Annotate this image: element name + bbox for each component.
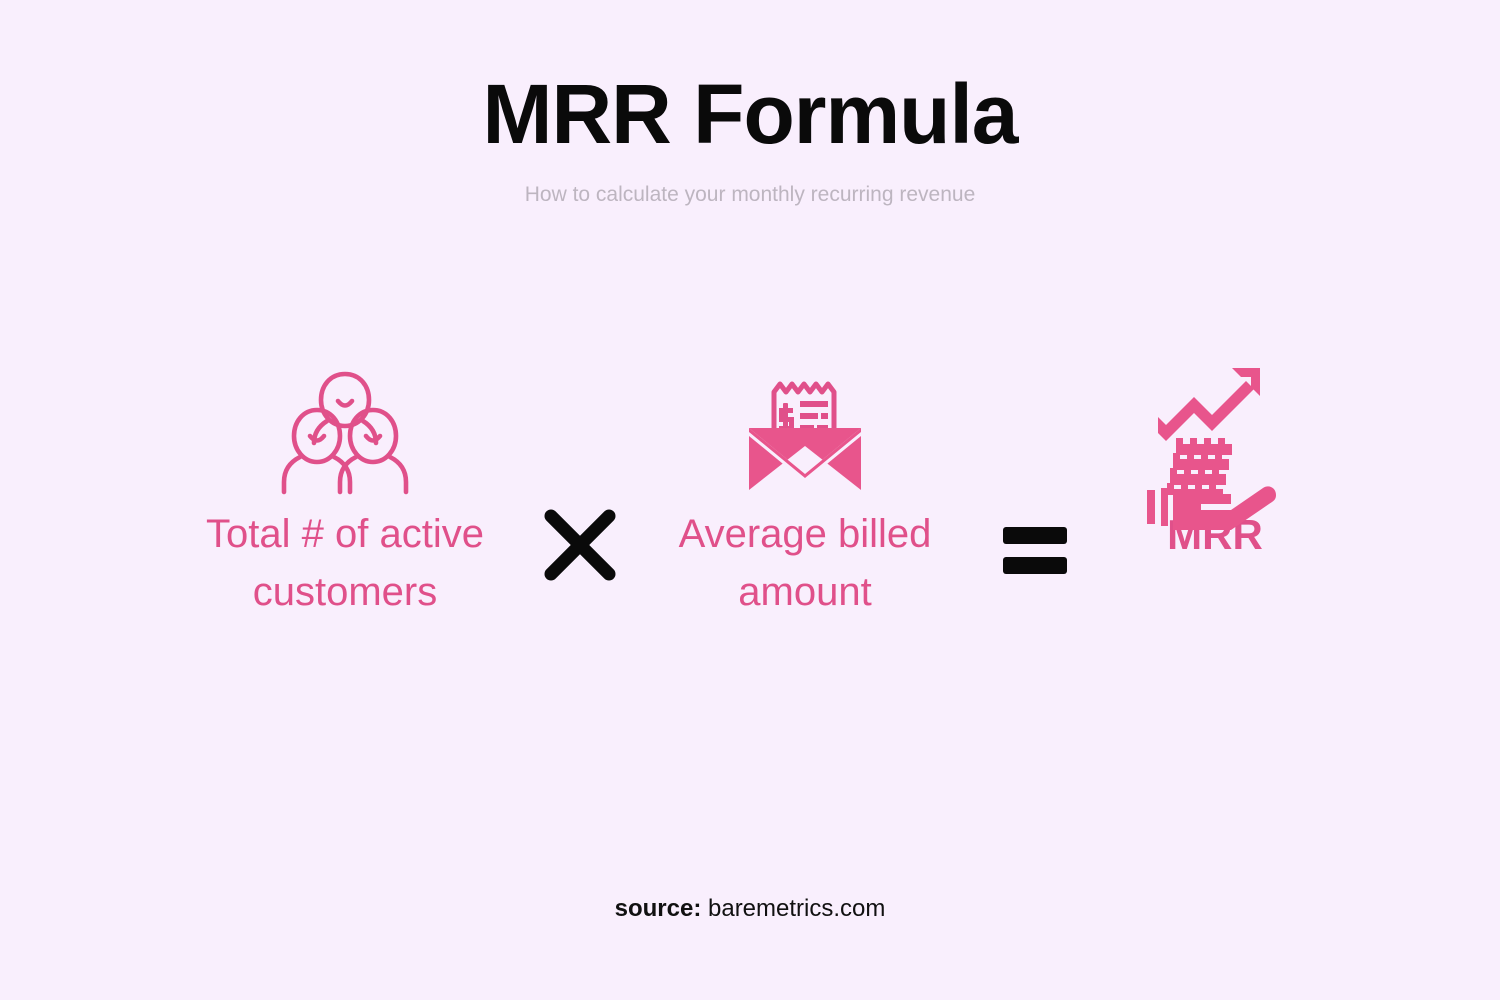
invoice-envelope-icon [735,355,875,495]
source-label: source: [615,895,702,922]
formula-term-active-customers: Total # of active customers [170,355,520,621]
source-value: baremetrics.com [701,895,885,922]
hand-icon [1145,478,1285,538]
infographic-canvas: MRR Formula How to calculate your monthl… [0,0,1500,1000]
page-title: MRR Formula [0,0,1500,156]
formula-term-average-billed: Average billed amount [640,355,970,621]
people-group-icon [270,355,420,495]
formula-term-label-active-customers: Total # of active customers [206,505,484,621]
equals-icon [995,505,1075,590]
equals-operator [970,355,1100,590]
header: MRR Formula How to calculate your monthl… [0,0,1500,207]
multiply-operator [520,355,640,590]
multiply-icon [540,505,620,590]
hand-coins-growth-icon [1150,355,1280,495]
source-attribution: source: baremetrics.com [0,895,1500,923]
page-subtitle: How to calculate your monthly recurring … [0,156,1500,207]
formula-term-label-average-billed: Average billed amount [679,505,932,621]
